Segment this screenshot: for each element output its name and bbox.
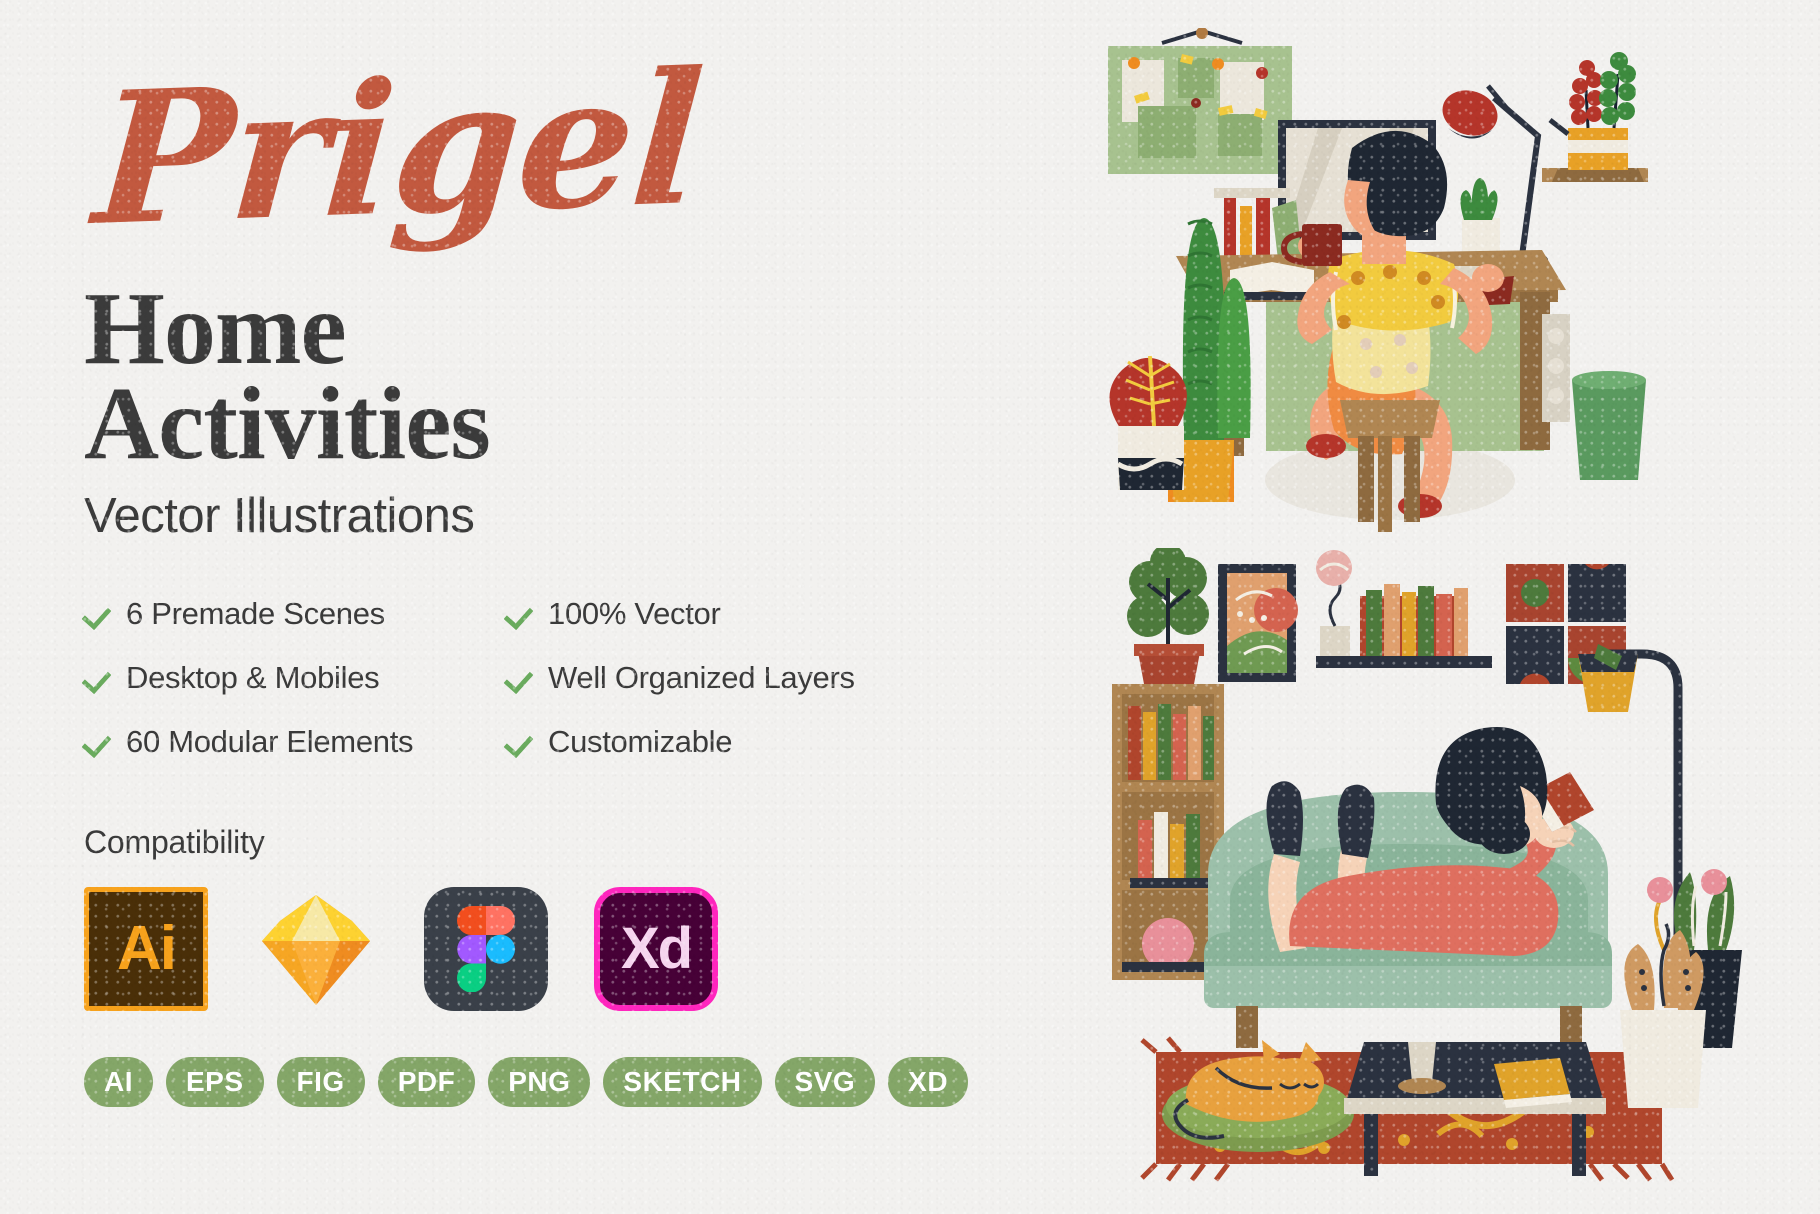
wall-shelf-books	[1316, 550, 1492, 668]
page-title-line-2: Activities	[84, 376, 940, 472]
feature-item: 100% Vector	[506, 596, 904, 632]
brand-script-logo: Prigel	[90, 51, 706, 247]
format-badge: PNG	[488, 1057, 590, 1107]
figma-glyph	[457, 906, 515, 992]
feature-label: 100% Vector	[548, 596, 720, 632]
page-title: Home Activities	[84, 281, 940, 472]
format-badge: EPS	[166, 1057, 264, 1107]
check-icon	[506, 664, 534, 692]
clover-plant	[1127, 548, 1209, 684]
poster-canvas: Prigel Home Activities Vector Illustrati…	[0, 0, 1820, 1214]
left-content-panel: Prigel Home Activities Vector Illustrati…	[0, 0, 940, 1214]
figma-icon	[424, 887, 548, 1011]
check-icon	[84, 664, 112, 692]
feature-label: 6 Premade Scenes	[126, 596, 385, 632]
xd-icon-label: Xd	[621, 920, 691, 978]
check-icon	[506, 728, 534, 756]
wall-strip-decor	[1542, 314, 1570, 422]
feature-label: 60 Modular Elements	[126, 724, 413, 760]
format-badge: PDF	[378, 1057, 476, 1107]
format-badge: FIG	[277, 1057, 365, 1107]
feature-label: Desktop & Mobiles	[126, 660, 379, 696]
waste-bin	[1572, 371, 1646, 480]
compatibility-label: Compatibility	[84, 824, 940, 861]
xd-icon: Xd	[594, 887, 718, 1011]
right-plants	[1620, 869, 1742, 1108]
check-icon	[84, 728, 112, 756]
green-leaf-plant	[1599, 52, 1636, 128]
format-badge: XD	[888, 1057, 968, 1107]
feature-label: Well Organized Layers	[548, 660, 855, 696]
feature-label: Customizable	[548, 724, 732, 760]
red-berry-plant	[1569, 60, 1603, 128]
check-icon	[84, 600, 112, 628]
bulletin-board	[1108, 28, 1292, 174]
format-badge: SKETCH	[603, 1057, 761, 1107]
feature-item: 60 Modular Elements	[84, 724, 506, 760]
feature-item: Well Organized Layers	[506, 660, 904, 696]
format-badge: AI	[84, 1057, 153, 1107]
feature-item: 6 Premade Scenes	[84, 596, 506, 632]
format-badge: SVG	[775, 1057, 876, 1107]
woman-working-at-desk-illustration	[1090, 28, 1730, 548]
bookshelf	[1112, 684, 1224, 980]
illustrator-icon: Ai	[84, 887, 208, 1011]
page-subtitle: Vector Illustrations	[84, 488, 940, 544]
illustrator-icon-label: Ai	[117, 918, 175, 980]
framed-art-left	[1218, 564, 1298, 682]
sketch-icon	[254, 887, 378, 1011]
illustration-column	[1090, 0, 1820, 1214]
woman-reading-on-sofa-illustration	[1108, 548, 1808, 1188]
red-leaf-plant	[1109, 356, 1186, 490]
format-badge-row: AI EPS FIG PDF PNG SKETCH SVG XD	[84, 1057, 940, 1107]
desk-cactus	[1460, 178, 1500, 254]
compatibility-icon-row: Ai Xd	[84, 887, 940, 1011]
feature-list: 6 Premade Scenes 100% Vector Desktop & M…	[84, 596, 904, 760]
wall-shelf-plant	[1542, 52, 1648, 182]
check-icon	[506, 600, 534, 628]
feature-item: Desktop & Mobiles	[84, 660, 506, 696]
feature-item: Customizable	[506, 724, 904, 760]
